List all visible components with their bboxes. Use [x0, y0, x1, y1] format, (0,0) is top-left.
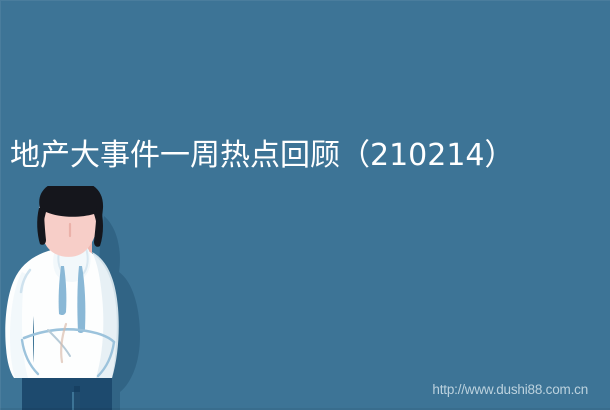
illustration-young-man-hoodie: [0, 186, 150, 410]
watermark-url: http://www.dushi88.com.cn: [432, 382, 588, 398]
article-cover-banner: 地产大事件一周热点回顾（210214） http://www.dushi88.c…: [0, 0, 610, 410]
page-title: 地产大事件一周热点回顾（210214）: [10, 139, 515, 173]
